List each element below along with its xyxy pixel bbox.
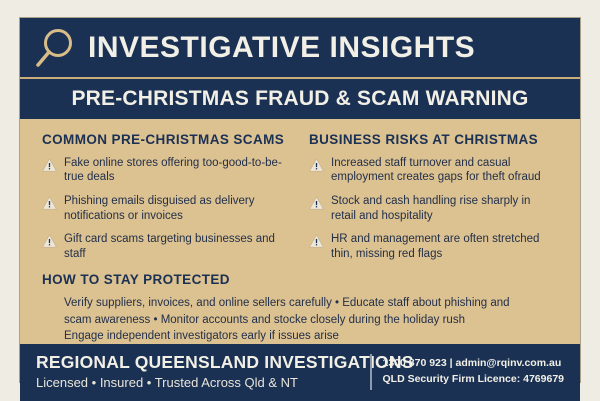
section-stay-protected: HOW TO STAY PROTECTED Verify suppliers, …: [42, 273, 558, 344]
protection-line: scam awareness • Monitor accounts and st…: [64, 312, 558, 328]
protection-line: Verify suppliers, invoices, and online s…: [64, 295, 558, 311]
poster-card: INVESTIGATIVE INSIGHTS PRE-CHRISTMAS FRA…: [19, 17, 581, 383]
list-item: Fake online stores offering too-good-to-…: [42, 156, 291, 185]
scam-list: Fake online stores offering too-good-to-…: [42, 156, 291, 262]
list-item-text: Stock and cash handling rise sharply in …: [331, 194, 558, 223]
warning-triangle-icon: [42, 158, 57, 172]
list-item-text: Increased staff turnover and casual empl…: [331, 156, 558, 185]
footer-contact-block: 1300 870 923 | admin@rqinv.com.au QLD Se…: [383, 356, 565, 388]
protection-line: Engage independent investigators early i…: [64, 328, 558, 344]
subhead-band: PRE-CHRISTMAS FRAUD & SCAM WARNING: [20, 79, 580, 119]
list-item: Stock and cash handling rise sharply in …: [309, 194, 558, 223]
column-common-scams: COMMON PRE-CHRISTMAS SCAMS Fake online s…: [42, 133, 291, 271]
footer-company-block: REGIONAL QUEENSLAND INVESTIGATIONS Licen…: [36, 353, 364, 391]
page-subtitle: PRE-CHRISTMAS FRAUD & SCAM WARNING: [30, 88, 570, 109]
warning-triangle-icon: [309, 234, 324, 248]
section-heading-risks: BUSINESS RISKS AT CHRISTMAS: [309, 133, 558, 147]
warning-triangle-icon: [309, 158, 324, 172]
list-item: HR and management are often stretched th…: [309, 232, 558, 261]
footer-band: REGIONAL QUEENSLAND INVESTIGATIONS Licen…: [20, 344, 580, 401]
list-item-text: Gift card scams targeting businesses and…: [64, 232, 291, 261]
list-item: Phishing emails disguised as delivery no…: [42, 194, 291, 223]
contact-phone-email[interactable]: 1300 870 923 | admin@rqinv.com.au: [383, 356, 565, 372]
content-area: COMMON PRE-CHRISTMAS SCAMS Fake online s…: [20, 119, 580, 344]
warning-triangle-icon: [42, 234, 57, 248]
magnifier-icon: [34, 27, 74, 69]
section-heading-scams: COMMON PRE-CHRISTMAS SCAMS: [42, 133, 291, 147]
security-licence-number: QLD Security Firm Licence: 4769679: [383, 372, 565, 388]
list-item-text: Phishing emails disguised as delivery no…: [64, 194, 291, 223]
list-item-text: HR and management are often stretched th…: [331, 232, 558, 261]
company-tagline: Licensed • Insured • Trusted Across Qld …: [36, 375, 364, 391]
warning-triangle-icon: [309, 196, 324, 210]
risk-list: Increased staff turnover and casual empl…: [309, 156, 558, 262]
protection-text-block: Verify suppliers, invoices, and online s…: [42, 295, 558, 344]
page-title: INVESTIGATIVE INSIGHTS: [88, 33, 475, 63]
two-column-layout: COMMON PRE-CHRISTMAS SCAMS Fake online s…: [42, 133, 558, 271]
footer-divider: [370, 354, 372, 390]
list-item: Increased staff turnover and casual empl…: [309, 156, 558, 185]
masthead-band: INVESTIGATIVE INSIGHTS: [20, 18, 580, 79]
section-heading-protected: HOW TO STAY PROTECTED: [42, 273, 558, 287]
column-business-risks: BUSINESS RISKS AT CHRISTMAS Increased st…: [309, 133, 558, 271]
list-item-text: Fake online stores offering too-good-to-…: [64, 156, 291, 185]
list-item: Gift card scams targeting businesses and…: [42, 232, 291, 261]
company-name: REGIONAL QUEENSLAND INVESTIGATIONS: [36, 353, 364, 372]
warning-triangle-icon: [42, 196, 57, 210]
